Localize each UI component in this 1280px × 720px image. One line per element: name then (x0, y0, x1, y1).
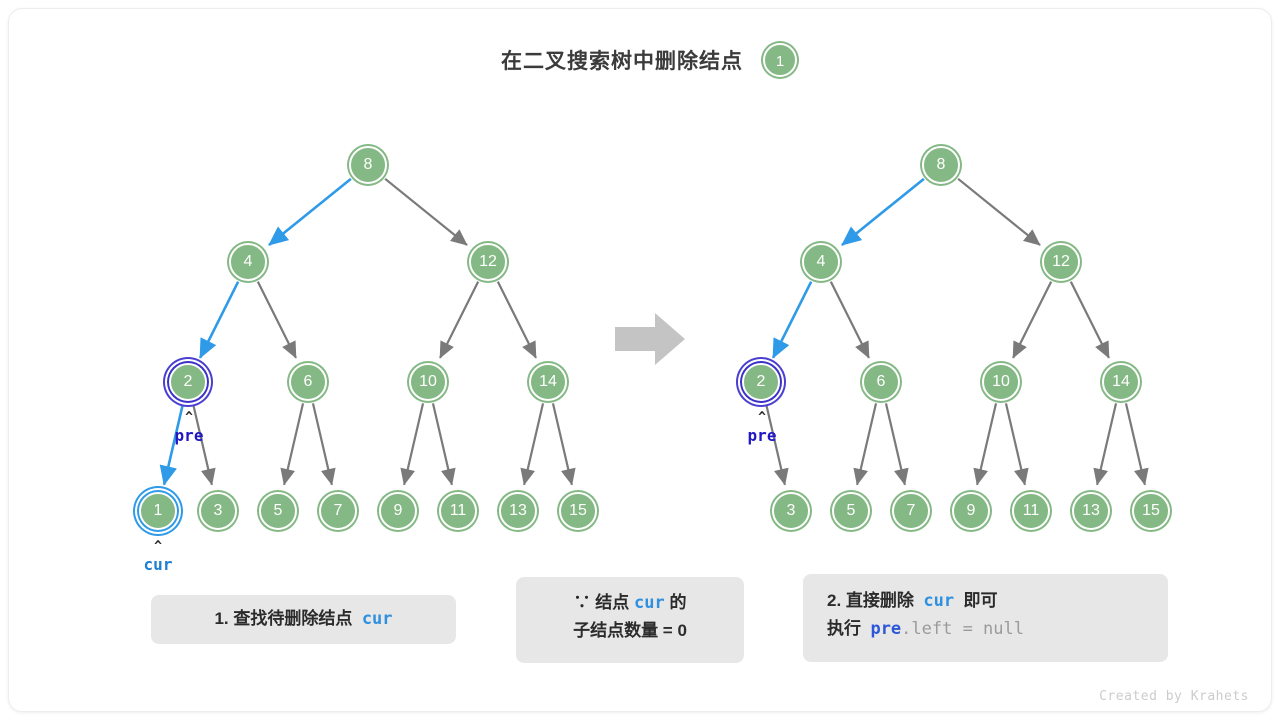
tree-edge (433, 403, 452, 484)
tree-edge (284, 403, 303, 484)
tree-edge (258, 282, 296, 358)
tree-edge (269, 179, 351, 245)
pointer-caret-icon: ^ (118, 542, 198, 552)
because-symbol: ∵ (574, 593, 591, 612)
tree-edge (200, 282, 238, 358)
tree-edge (404, 403, 423, 484)
tree-edge (1071, 282, 1109, 358)
tree-node-5[interactable]: 5 (259, 492, 297, 530)
caption-step-2-var: cur (923, 591, 954, 611)
caption-step-2-pre-var: pre (870, 619, 901, 639)
caption-step-1-line: 1. 查找待删除结点 cur (151, 605, 456, 633)
diagram-card: 在二叉搜索树中删除结点1 841226101413579111315841226… (8, 8, 1272, 712)
tree-node-13[interactable]: 13 (499, 492, 537, 530)
tree-edge (857, 403, 876, 484)
tree-node-15[interactable]: 15 (559, 492, 597, 530)
tree-node-10[interactable]: 10 (982, 363, 1020, 401)
tree-node-9[interactable]: 9 (379, 492, 417, 530)
tree-node-15[interactable]: 15 (1132, 492, 1170, 530)
tree-node-4[interactable]: 4 (229, 243, 267, 281)
pointer-name: pre (722, 426, 802, 446)
tree-node-14[interactable]: 14 (1102, 363, 1140, 401)
caption-step-2: 2. 直接删除 cur 即可 执行 pre.left = null (803, 574, 1168, 662)
credit-text: Created by Krahets (1099, 689, 1249, 704)
tree-node-7[interactable]: 7 (892, 492, 930, 530)
caption-step-2-suffix: 即可 (964, 591, 998, 610)
tree-edge (313, 403, 332, 484)
tree-node-6[interactable]: 6 (862, 363, 900, 401)
tree-edge (886, 403, 905, 484)
tree-node-11[interactable]: 11 (1012, 492, 1050, 530)
caption-condition-a: 结点 (595, 593, 629, 612)
tree-node-5[interactable]: 5 (832, 492, 870, 530)
caption-step-2-prefix: 2. 直接删除 (827, 591, 914, 610)
tree-edge (385, 179, 467, 245)
title-step-badge: 1 (763, 43, 797, 77)
tree-node-7[interactable]: 7 (319, 492, 357, 530)
caption-condition-line-1: ∵ 结点 cur 的 (516, 589, 744, 617)
title-text: 在二叉搜索树中删除结点 (501, 50, 743, 73)
pointer-label-pre: ^pre (722, 413, 802, 446)
tree-node-10[interactable]: 10 (409, 363, 447, 401)
tree-edge (958, 179, 1040, 245)
diagram-stage: 在二叉搜索树中删除结点1 841226101413579111315841226… (9, 9, 1272, 712)
tree-edge (773, 282, 811, 358)
tree-node-8[interactable]: 8 (349, 146, 387, 184)
caption-condition-line-2: 子结点数量 = 0 (516, 617, 744, 645)
tree-node-11[interactable]: 11 (439, 492, 477, 530)
tree-node-12[interactable]: 12 (469, 243, 507, 281)
tree-node-3[interactable]: 3 (772, 492, 810, 530)
pointer-name: pre (149, 426, 229, 446)
caption-condition: ∵ 结点 cur 的 子结点数量 = 0 (516, 577, 744, 663)
tree-edge (1126, 403, 1145, 484)
tree-node-13[interactable]: 13 (1072, 492, 1110, 530)
tree-node-6[interactable]: 6 (289, 363, 327, 401)
pointer-caret-icon: ^ (722, 413, 802, 423)
tree-node-14[interactable]: 14 (529, 363, 567, 401)
tree-node-12[interactable]: 12 (1042, 243, 1080, 281)
tree-node-9[interactable]: 9 (952, 492, 990, 530)
tree-edge (524, 403, 543, 484)
tree-node-2[interactable]: 2 (742, 363, 780, 401)
pointer-label-cur: ^cur (118, 542, 198, 575)
transition-arrow-icon (615, 311, 685, 367)
caption-step-1-text: 1. 查找待删除结点 (214, 609, 352, 628)
tree-edge (1013, 282, 1051, 358)
caption-step-2-line-1: 2. 直接删除 cur 即可 (827, 587, 1168, 615)
caption-step-1: 1. 查找待删除结点 cur (151, 595, 456, 644)
page-title: 在二叉搜索树中删除结点1 (9, 43, 1272, 77)
tree-edge (498, 282, 536, 358)
tree-node-4[interactable]: 4 (802, 243, 840, 281)
caption-step-2-code: .left = null (901, 619, 1024, 639)
tree-edge (1097, 403, 1116, 484)
caption-condition-var: cur (634, 593, 665, 613)
tree-edge (440, 282, 478, 358)
caption-step-1-var: cur (362, 609, 393, 629)
caption-step-2-exec: 执行 (827, 619, 861, 638)
tree-node-1[interactable]: 1 (139, 492, 177, 530)
tree-edge (553, 403, 572, 484)
caption-step-2-line-2: 执行 pre.left = null (827, 615, 1168, 643)
pointer-caret-icon: ^ (149, 413, 229, 423)
tree-node-3[interactable]: 3 (199, 492, 237, 530)
tree-edge (842, 179, 924, 245)
tree-edge (831, 282, 869, 358)
tree-node-8[interactable]: 8 (922, 146, 960, 184)
tree-edge (977, 403, 996, 484)
pointer-label-pre: ^pre (149, 413, 229, 446)
tree-node-2[interactable]: 2 (169, 363, 207, 401)
caption-condition-b: 的 (669, 593, 686, 612)
pointer-name: cur (118, 555, 198, 575)
tree-edge (1006, 403, 1025, 484)
